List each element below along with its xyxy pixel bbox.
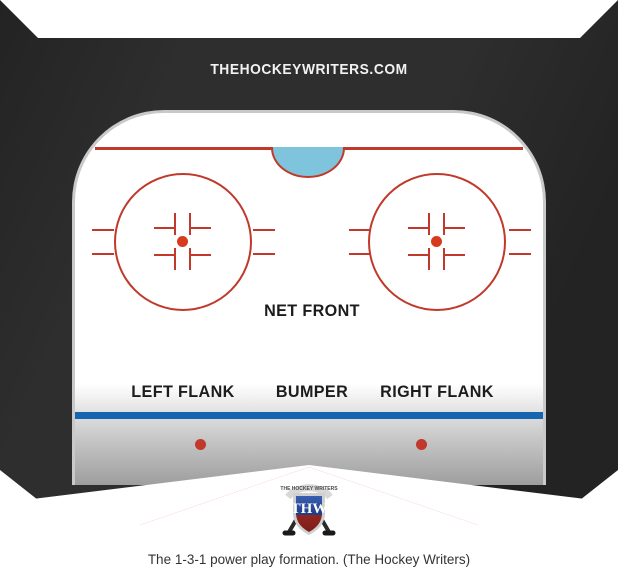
logo-arc-text: THE HOCKEY WRITERS [280,486,338,492]
faceoff-hash-left-inner-top [253,229,275,231]
position-label-net-front: NET FRONT [87,301,537,321]
faceoff-dot-left [177,236,188,247]
position-label-right-flank: RIGHT FLANK [372,382,501,402]
neutral-zone-dot-right [416,439,427,450]
faceoff-hash-right-inner-top [349,229,371,231]
faceoff-hash-right-inner-bot [349,253,371,255]
blue-line [75,412,543,419]
faceoff-hash-left-outer-bot [92,253,114,255]
faceoff-hash-left-inner-bot [253,253,275,255]
hockey-formation-figure: THEHOCKEYWRITERS.COM [0,0,618,585]
faceoff-dot-right [431,236,442,247]
ice-markings: NET FRONT LEFT FLANK BUMPER RIGHT FLANK … [75,113,543,485]
goal-crease [271,147,345,178]
faceoff-hash-right-outer-top [509,229,531,231]
faceoff-hash-right-outer-bot [509,253,531,255]
figure-caption: The 1-3-1 power play formation. (The Hoc… [0,552,618,567]
site-title: THEHOCKEYWRITERS.COM [25,61,594,78]
neutral-zone-dot-left [195,439,206,450]
thw-shield-logo: THE HOCKEY WRITERS THW [277,477,341,539]
faceoff-hash-left-outer-top [92,229,114,231]
ice-surface: NET FRONT LEFT FLANK BUMPER RIGHT FLANK … [72,110,546,485]
logo-monogram: THW [291,501,328,517]
